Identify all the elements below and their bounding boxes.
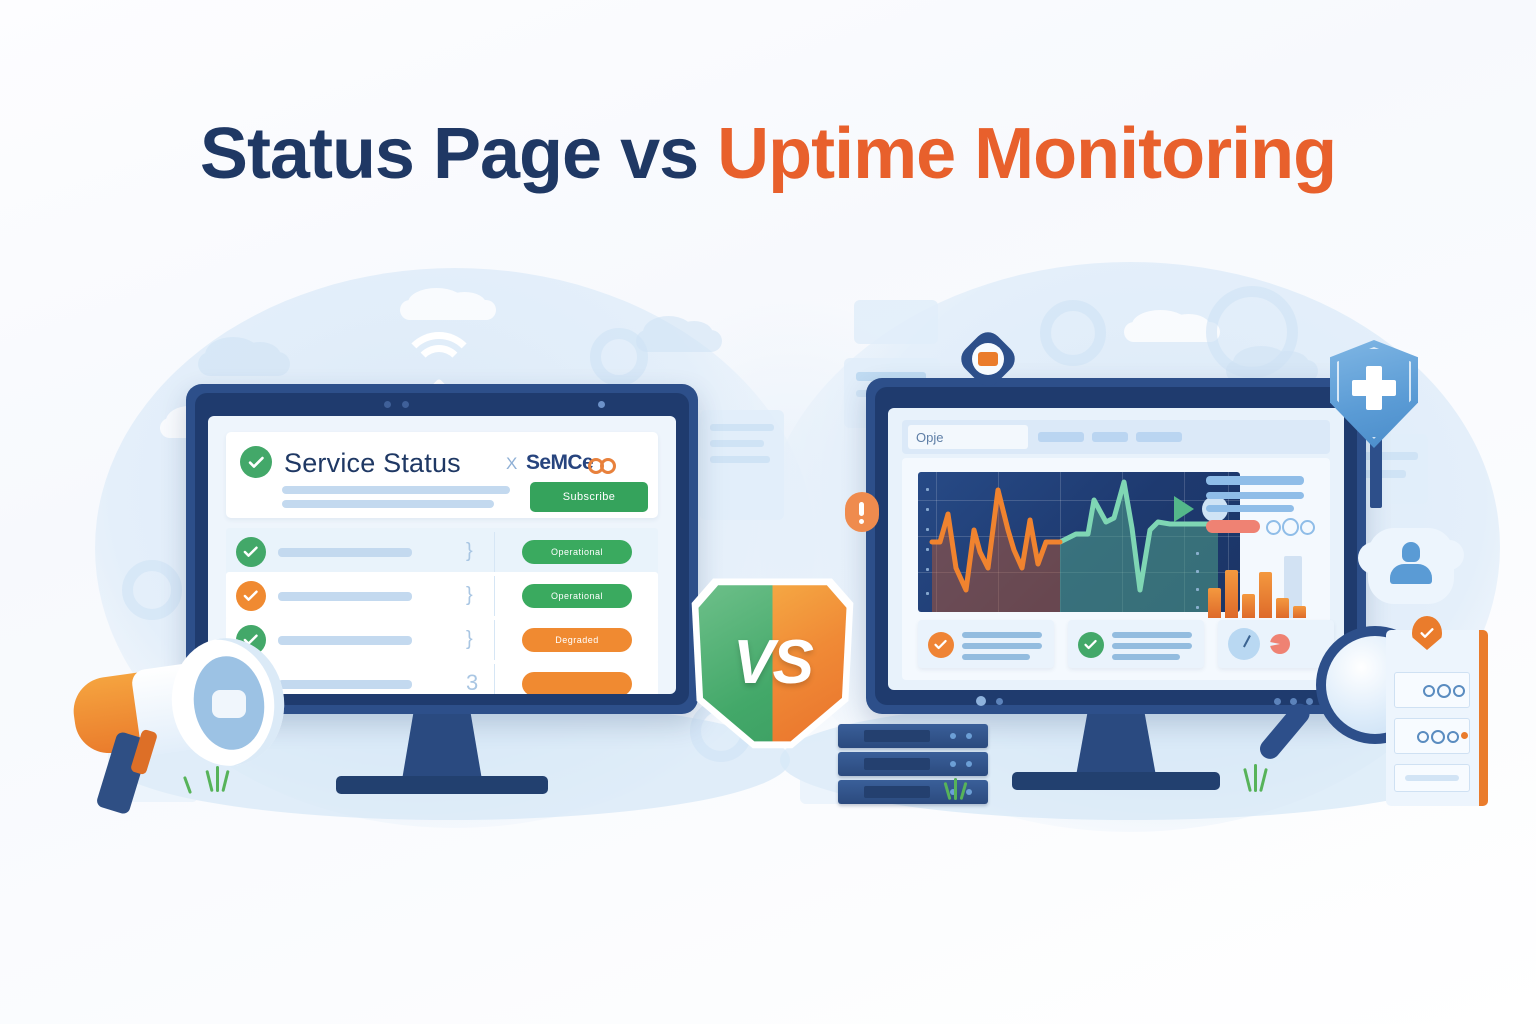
panel-line — [1206, 492, 1304, 499]
power-dot — [976, 696, 986, 706]
toolbar-line — [1038, 432, 1084, 442]
row-divider — [494, 664, 495, 694]
monitor-neck — [1076, 714, 1156, 776]
background-line — [710, 440, 764, 447]
background-card — [854, 300, 938, 344]
logo-prefix: X — [506, 454, 517, 474]
panel-line — [1206, 505, 1294, 512]
progress-icon — [1270, 634, 1290, 654]
card-line — [962, 632, 1042, 638]
monitor-neck — [402, 714, 482, 780]
grass-decor — [954, 778, 957, 800]
cloud-icon — [198, 352, 290, 376]
gear-icon — [1040, 300, 1106, 366]
bar — [1276, 598, 1289, 618]
status-badge: Operational — [522, 584, 632, 608]
background-line — [710, 456, 770, 463]
shield-health-icon — [1330, 340, 1418, 448]
panel-ring-icon — [1266, 520, 1281, 535]
status-card[interactable] — [918, 620, 1054, 668]
grass-decor — [216, 766, 219, 792]
check-circle-orange-icon — [928, 632, 954, 658]
placeholder-line — [282, 486, 510, 494]
gear-icon — [590, 328, 648, 386]
vs-badge: VS — [690, 575, 855, 750]
row-glyph: } — [466, 628, 473, 651]
row-glyph: } — [466, 584, 473, 607]
status-badge — [522, 672, 632, 694]
check-circle-green-icon — [1078, 632, 1104, 658]
camera-dot — [402, 401, 409, 408]
row-divider — [494, 532, 495, 572]
grass-decor — [1254, 764, 1257, 792]
subscribe-button[interactable]: Subscribe — [530, 482, 648, 512]
table-row[interactable]: } Operational — [226, 528, 658, 576]
server-rack-icon — [838, 724, 988, 806]
camera-dot — [598, 401, 605, 408]
alert-badge-icon — [845, 492, 879, 532]
illustration-canvas: Status Page vs Uptime Monitoring Service… — [0, 0, 1536, 1024]
panel-line — [1206, 476, 1304, 485]
cloud-icon — [636, 330, 722, 352]
dashboard-toolbar: Opje — [902, 420, 1330, 454]
bar — [1293, 606, 1306, 618]
play-icon[interactable] — [1174, 496, 1194, 522]
table-row[interactable]: } Operational — [226, 572, 658, 620]
bar — [1259, 572, 1272, 618]
status-badge: Degraded — [522, 628, 632, 652]
camera-dot — [384, 401, 391, 408]
card-line — [962, 643, 1042, 649]
chart-series-svg — [918, 472, 1240, 612]
card-line — [1112, 654, 1180, 660]
gauge-icon — [1228, 628, 1260, 660]
card-line — [1112, 643, 1192, 649]
logo-accent-icon — [600, 458, 616, 474]
alert-pill — [1206, 520, 1260, 533]
uptime-chart — [918, 472, 1240, 612]
card-line — [1112, 632, 1192, 638]
bar — [1225, 570, 1238, 618]
check-circle-orange-icon — [236, 581, 266, 611]
gear-icon — [1206, 286, 1298, 378]
uptime-dashboard-screen: Opje — [888, 408, 1344, 690]
row-glyph: 3 — [466, 670, 478, 694]
dashboard-tab[interactable]: Opje — [908, 425, 1028, 449]
row-divider — [494, 620, 495, 660]
gear-icon — [122, 560, 182, 620]
card-line — [962, 654, 1030, 660]
monitor-base — [1012, 772, 1220, 790]
row-glyph: } — [466, 540, 473, 563]
toolbar-line — [1092, 432, 1128, 442]
status-card[interactable] — [1068, 620, 1204, 668]
power-dot — [996, 698, 1003, 705]
cloud-icon — [400, 300, 496, 320]
bar — [1242, 594, 1255, 618]
panel-ring-icon — [1300, 520, 1315, 535]
check-circle-green-icon — [240, 446, 272, 478]
brand-logo-text: SeMCe — [526, 451, 593, 475]
gear-badge-icon — [965, 336, 1011, 382]
title-part-navy: Status Page vs — [200, 114, 717, 194]
server-cabinet-icon — [1386, 630, 1488, 806]
title-part-orange: Uptime Monitoring — [717, 114, 1336, 194]
placeholder-line — [282, 500, 494, 508]
page-title: Status Page vs Uptime Monitoring — [0, 118, 1536, 190]
check-circle-green-icon — [236, 537, 266, 567]
user-avatar-icon — [1368, 528, 1454, 604]
vs-badge-label: VS — [690, 575, 855, 750]
status-heading: Service Status — [284, 448, 461, 479]
dashboard-body — [902, 458, 1330, 680]
monitor-base — [336, 776, 548, 794]
status-header-card: Service Status X SeMCe Subscribe — [226, 432, 658, 518]
status-badge: Operational — [522, 540, 632, 564]
bar — [1208, 588, 1221, 618]
side-bar-chart — [1206, 544, 1314, 618]
dashboard-side-panel — [1204, 472, 1316, 614]
megaphone-icon — [62, 630, 312, 820]
background-line — [710, 424, 774, 431]
panel-ring-icon — [1282, 518, 1299, 536]
row-divider — [494, 576, 495, 616]
toolbar-line — [1136, 432, 1182, 442]
power-dot — [1274, 698, 1281, 705]
row-label-placeholder — [278, 548, 412, 557]
row-label-placeholder — [278, 592, 412, 601]
